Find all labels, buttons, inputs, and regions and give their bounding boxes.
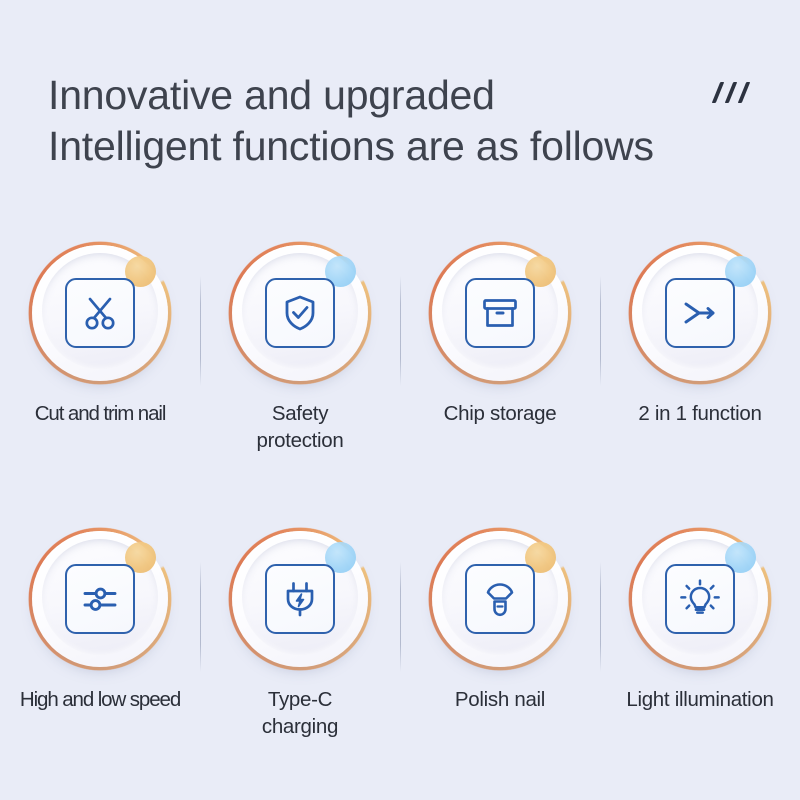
merge-arrows-icon <box>665 278 735 348</box>
scissors-icon <box>65 278 135 348</box>
feature-label: High and low speed <box>20 686 180 713</box>
feature-row-top: Cut and trim nail Safety prote <box>0 228 800 514</box>
power-plug-icon <box>265 564 335 634</box>
feature-badge <box>23 236 177 390</box>
lightbulb-icon <box>665 564 735 634</box>
feature-label: Cut and trim nail <box>35 400 166 427</box>
page-title-line-1: Innovative and upgraded <box>48 70 748 121</box>
feature-badge <box>223 236 377 390</box>
feature-badge <box>623 522 777 676</box>
feature-item-2-in-1-function[interactable]: 2 in 1 function <box>600 228 800 514</box>
feature-badge <box>423 522 577 676</box>
sliders-icon <box>65 564 135 634</box>
feature-badge <box>223 522 377 676</box>
feature-item-light-illumination[interactable]: Light illumination <box>600 514 800 800</box>
feature-highlight-page: Innovative and upgraded Intelligent func… <box>0 0 800 800</box>
feature-badge <box>623 236 777 390</box>
shield-check-icon <box>265 278 335 348</box>
polish-brush-icon <box>465 564 535 634</box>
feature-label: Type-C charging <box>262 686 338 740</box>
feature-badge <box>23 522 177 676</box>
feature-label: Chip storage <box>444 400 557 427</box>
feature-item-safety-protection[interactable]: Safety protection <box>200 228 400 514</box>
feature-badge <box>423 236 577 390</box>
page-title: Innovative and upgraded Intelligent func… <box>48 70 748 172</box>
feature-label: 2 in 1 function <box>638 400 761 427</box>
feature-label: Polish nail <box>455 686 545 713</box>
feature-item-high-and-low-speed[interactable]: High and low speed <box>0 514 200 800</box>
feature-item-polish-nail[interactable]: Polish nail <box>400 514 600 800</box>
feature-item-type-c-charging[interactable]: Type-C charging <box>200 514 400 800</box>
feature-item-cut-and-trim-nail[interactable]: Cut and trim nail <box>0 228 200 514</box>
storage-box-icon <box>465 278 535 348</box>
page-title-line-2: Intelligent functions are as follows <box>48 121 748 172</box>
feature-row-bottom: High and low speed <box>0 514 800 800</box>
feature-label: Safety protection <box>256 400 343 454</box>
feature-grid: Cut and trim nail Safety prote <box>0 228 800 800</box>
feature-label: Light illumination <box>626 686 773 713</box>
triple-slash-decoration-icon <box>716 82 762 108</box>
feature-item-chip-storage[interactable]: Chip storage <box>400 228 600 514</box>
